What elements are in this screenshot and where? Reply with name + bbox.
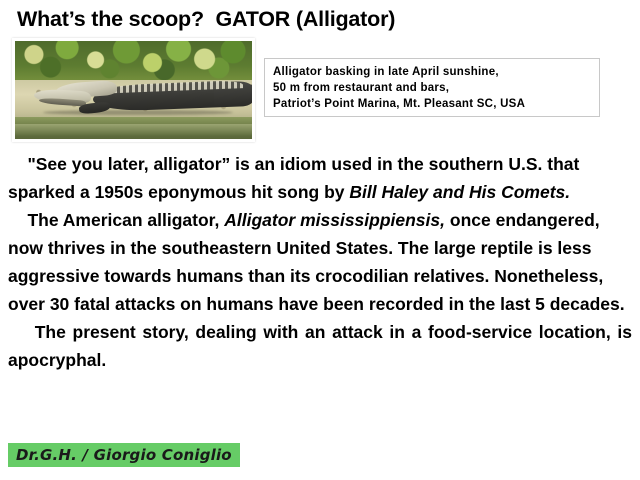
caption-line-2: 50 m from restaurant and bars, <box>273 80 593 96</box>
photo-caption-box: Alligator basking in late April sunshine… <box>264 58 600 117</box>
alligator-photo <box>15 41 252 139</box>
author-signature-badge: Dr.G.H. / Giorgio Coniglio <box>8 443 240 467</box>
body-text: "See you later, alligator” is an idiom u… <box>8 150 632 374</box>
paragraph-idiom-band-name: Bill Haley and His Comets. <box>349 182 570 202</box>
paragraph-species-part1: The American alligator, <box>8 210 224 230</box>
alligator-photo-frame <box>12 38 255 142</box>
caption-line-1: Alligator basking in late April sunshine… <box>273 64 593 80</box>
page-title: What’s the scoop? GATOR (Alligator) <box>17 6 395 32</box>
author-signature-label: Dr.G.H. / Giorgio Coniglio <box>16 446 232 464</box>
paragraph-species: The American alligator, Alligator missis… <box>8 206 632 318</box>
photo-water-reflection <box>15 124 252 136</box>
paragraph-species-latin-name: Alligator mississippiensis, <box>224 210 445 230</box>
caption-line-3: Patriot’s Point Marina, Mt. Pleasant SC,… <box>273 96 593 112</box>
paragraph-idiom: "See you later, alligator” is an idiom u… <box>8 150 632 206</box>
paragraph-apocryphal: The present story, dealing with an attac… <box>8 318 632 374</box>
slide-canvas: What’s the scoop? GATOR (Alligator) Alli… <box>0 0 640 480</box>
